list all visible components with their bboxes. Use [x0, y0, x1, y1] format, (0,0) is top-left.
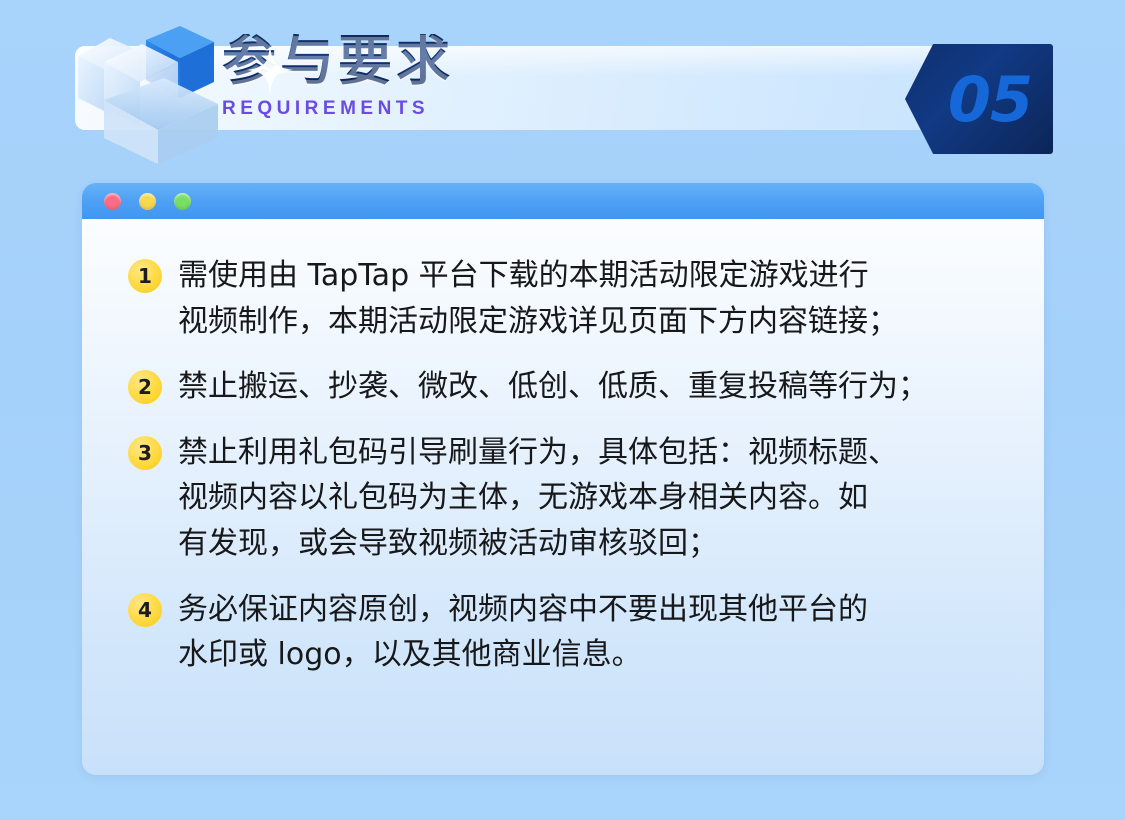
requirement-item: 4务必保证内容原创，视频内容中不要出现其他平台的水印或 logo，以及其他商业信…: [128, 587, 996, 678]
requirement-text-line: 禁止搬运、抄袭、微改、低创、低质、重复投稿等行为；: [178, 364, 996, 410]
requirement-number-badge: 1: [128, 259, 162, 293]
requirement-text: 禁止利用礼包码引导刷量行为，具体包括：视频标题、视频内容以礼包码为主体，无游戏本…: [178, 430, 996, 567]
window-body: 1需使用由 TapTap 平台下载的本期活动限定游戏进行视频制作，本期活动限定游…: [82, 219, 1044, 775]
requirement-text-line: 需使用由 TapTap 平台下载的本期活动限定游戏进行: [178, 253, 996, 299]
page-subtitle: REQUIREMENTS: [222, 98, 642, 120]
requirement-text-line: 禁止利用礼包码引导刷量行为，具体包括：视频标题、: [178, 430, 996, 476]
requirement-item: 3禁止利用礼包码引导刷量行为，具体包括：视频标题、视频内容以礼包码为主体，无游戏…: [128, 430, 996, 567]
header-title-block: 参与要求 REQUIREMENTS: [222, 34, 642, 144]
header: 参与要求 REQUIREMENTS 05: [0, 0, 1125, 175]
requirement-text-line: 务必保证内容原创，视频内容中不要出现其他平台的: [178, 587, 996, 633]
glass-cubes-icon: [68, 22, 233, 167]
section-number: 05: [905, 44, 1053, 154]
requirement-item: 2禁止搬运、抄袭、微改、低创、低质、重复投稿等行为；: [128, 364, 996, 410]
requirement-number-badge: 3: [128, 436, 162, 470]
requirement-text: 禁止搬运、抄袭、微改、低创、低质、重复投稿等行为；: [178, 364, 996, 410]
requirement-number-badge: 4: [128, 593, 162, 627]
maximize-dot[interactable]: [174, 193, 191, 210]
section-number-badge: 05: [905, 44, 1053, 154]
close-dot[interactable]: [104, 193, 121, 210]
page-title: 参与要求: [222, 34, 642, 88]
window-titlebar: [82, 183, 1044, 219]
page-root: TAPTAP TAPTAP: [0, 0, 1125, 820]
requirement-text-line: 水印或 logo，以及其他商业信息。: [178, 632, 996, 678]
requirement-text: 务必保证内容原创，视频内容中不要出现其他平台的水印或 logo，以及其他商业信息…: [178, 587, 996, 678]
window-card: 1需使用由 TapTap 平台下载的本期活动限定游戏进行视频制作，本期活动限定游…: [82, 183, 1044, 775]
requirement-text-line: 视频内容以礼包码为主体，无游戏本身相关内容。如: [178, 475, 996, 521]
requirement-text-line: 视频制作，本期活动限定游戏详见页面下方内容链接；: [178, 299, 996, 345]
requirement-number-badge: 2: [128, 370, 162, 404]
requirement-text-line: 有发现，或会导致视频被活动审核驳回；: [178, 521, 996, 567]
minimize-dot[interactable]: [139, 193, 156, 210]
requirements-list: 1需使用由 TapTap 平台下载的本期活动限定游戏进行视频制作，本期活动限定游…: [128, 253, 996, 678]
requirement-text: 需使用由 TapTap 平台下载的本期活动限定游戏进行视频制作，本期活动限定游戏…: [178, 253, 996, 344]
requirement-item: 1需使用由 TapTap 平台下载的本期活动限定游戏进行视频制作，本期活动限定游…: [128, 253, 996, 344]
